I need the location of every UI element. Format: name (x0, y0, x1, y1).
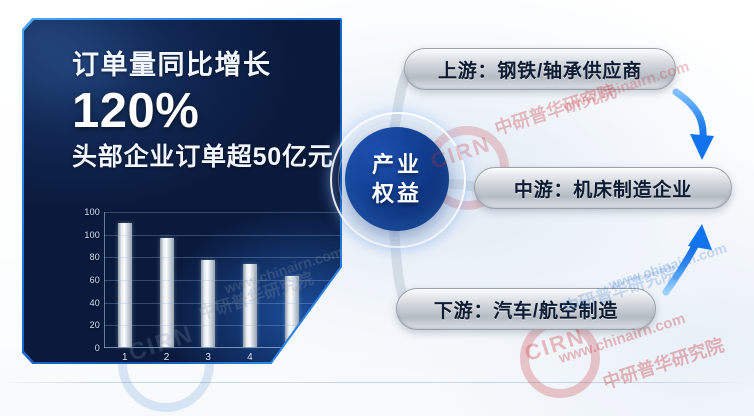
chart-gridline (104, 257, 340, 258)
chart-bar (160, 238, 174, 347)
chart-y-tick-label: 20 (90, 320, 100, 330)
background-divider-line (0, 382, 754, 383)
chain-pill-midstream[interactable]: 中游：机床制造企业 (474, 167, 732, 209)
chart-gridline (104, 280, 340, 281)
chart-gridline (104, 212, 340, 213)
hub-label-line1: 产业 (372, 150, 422, 179)
hub-badge: 产业 权益 (345, 127, 449, 231)
hub-label-line2: 权益 (372, 179, 422, 208)
chart-bar (243, 264, 257, 347)
chart-gridline (104, 303, 340, 304)
infographic-canvas: 订单量同比增长 120% 头部企业订单超50亿元 100100806040200… (0, 0, 754, 416)
stat-card: 订单量同比增长 120% 头部企业订单超50亿元 100100806040200… (24, 20, 340, 362)
chart-x-tick-label: 1 (104, 352, 146, 362)
chart-x-tick-label: 2 (146, 352, 188, 362)
chart-x-tick-label: 4 (229, 352, 271, 362)
chart-x-tick-label: 3 (187, 352, 229, 362)
chain-pill-upstream-label: 上游：钢铁/轴承供应商 (438, 56, 642, 83)
card-headline: 订单量同比增长 120% 头部企业订单超50亿元 (72, 50, 340, 172)
chart-y-axis: 100100806040200 (74, 212, 100, 348)
chain-pill-downstream[interactable]: 下游：汽车/航空制造 (396, 288, 656, 330)
chart-y-tick-label: 100 (84, 207, 100, 217)
headline-metric: 120% (72, 86, 340, 137)
chain-pill-upstream[interactable]: 上游：钢铁/轴承供应商 (404, 48, 676, 90)
chart-y-tick-label: 40 (90, 298, 100, 308)
chart-gridline (104, 235, 340, 236)
chart-y-tick-label: 60 (90, 275, 100, 285)
chart-y-tick-label: 80 (90, 252, 100, 262)
chain-pill-downstream-label: 下游：汽车/航空制造 (434, 296, 618, 323)
chart-y-tick-label: 0 (95, 343, 100, 353)
chart-y-tick-label: 100 (84, 230, 100, 240)
chain-pill-midstream-label: 中游：机床制造企业 (514, 175, 692, 202)
headline-subtitle: 订单量同比增长 (72, 50, 340, 82)
headline-detail: 头部企业订单超50亿元 (72, 142, 340, 172)
chart-bar (118, 223, 132, 347)
